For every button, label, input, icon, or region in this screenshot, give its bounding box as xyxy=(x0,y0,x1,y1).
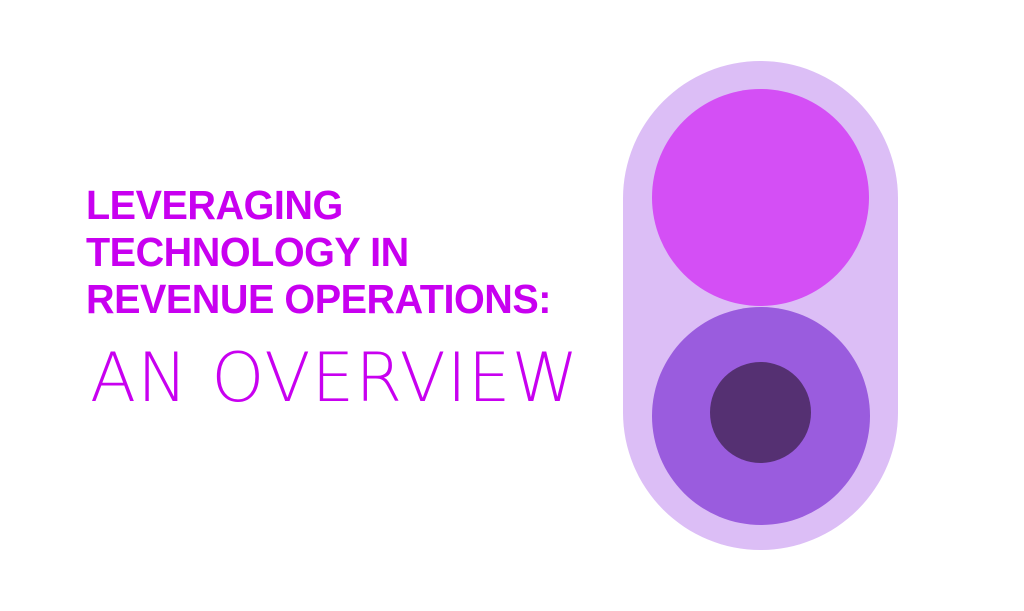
title-slide: LEVERAGING TECHNOLOGY IN REVENUE OPERATI… xyxy=(0,0,1024,611)
magenta-circle-shape xyxy=(652,89,869,306)
heading-line-1: LEVERAGING xyxy=(86,182,597,229)
heading-line-2: TECHNOLOGY IN xyxy=(86,229,597,276)
subtitle: AN OVERVIEW xyxy=(90,340,611,418)
dark-purple-circle-shape xyxy=(710,362,811,463)
title-text-block: LEVERAGING TECHNOLOGY IN REVENUE OPERATI… xyxy=(86,182,616,418)
abstract-circles-emblem xyxy=(623,61,898,550)
heading-line-3: REVENUE OPERATIONS: xyxy=(86,276,597,323)
